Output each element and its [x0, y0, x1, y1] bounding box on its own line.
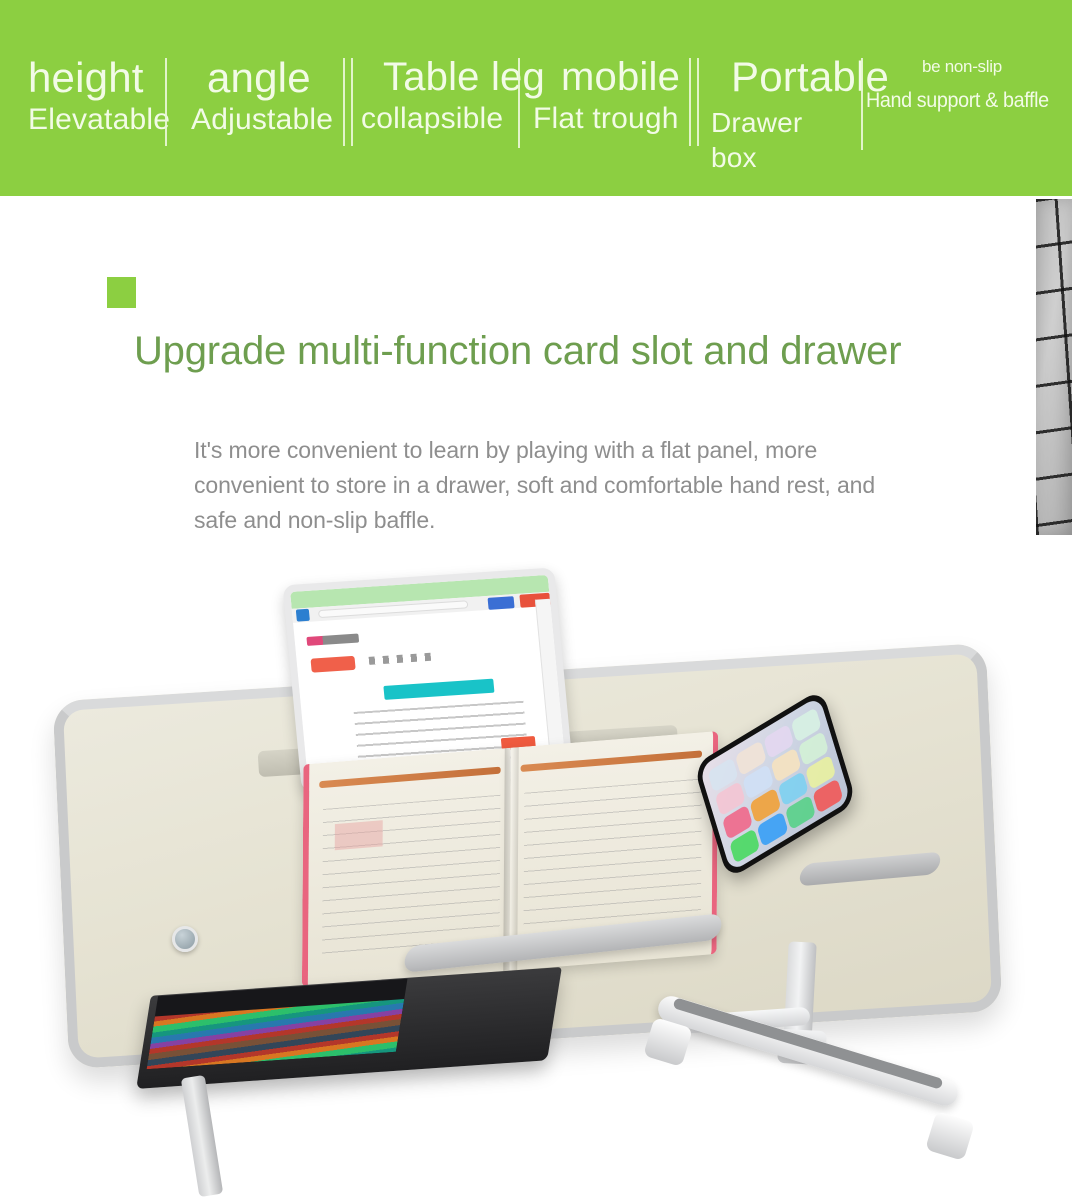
notebook-right-highlight: [521, 750, 702, 772]
tablet-blue-button: [488, 596, 515, 610]
notebook-left-highlight: [319, 767, 500, 789]
banner-separator-3: [351, 58, 353, 146]
table-foot-cap-right: [925, 1111, 975, 1161]
banner-separator-6: [697, 58, 699, 146]
feature-angle-subtitle: Adjustable: [191, 104, 333, 136]
tile-pattern-strip: [1036, 199, 1072, 535]
feature-mobile-subtitle: Flat trough: [533, 103, 680, 135]
tablet-scrollbar: [535, 599, 565, 759]
product-photo: [0, 560, 1072, 1197]
banner-separator-4: [518, 58, 520, 148]
page-headline: Upgrade multi-function card slot and dra…: [134, 324, 924, 379]
accent-square: [107, 277, 136, 308]
banner-separator-1: [165, 58, 167, 146]
banner-separator-7: [861, 58, 863, 150]
banner-separator-2: [343, 58, 345, 146]
tablet-orange-tag: [310, 656, 355, 673]
table-leg-left: [181, 1075, 223, 1197]
tablet-teal-banner: [383, 679, 494, 700]
feature-height-subtitle: Elevatable: [28, 104, 170, 136]
notebook-left-rules: [322, 795, 500, 960]
feature-non-slip-subtitle: Hand support & baffle: [866, 90, 1049, 112]
tablet-site-logo-icon: [306, 634, 359, 646]
feature-angle-title: angle: [191, 56, 333, 100]
tablet-toolbar-icons: [369, 653, 432, 665]
notebook-pink-mark: [335, 820, 383, 850]
feature-banner: height Elevatable angle Adjustable Table…: [0, 0, 1072, 196]
feature-height-title: height: [28, 56, 170, 100]
feature-mobile: mobile Flat trough: [533, 56, 680, 135]
feature-non-slip: be non-slip Hand support & baffle: [866, 58, 1060, 112]
banner-separator-5: [689, 58, 691, 146]
angle-adjust-knob: [172, 926, 198, 952]
tablet-browser-logo-icon: [296, 609, 310, 622]
feature-non-slip-title: be non-slip: [866, 58, 1060, 76]
feature-height: height Elevatable: [28, 56, 170, 136]
feature-portable-subtitle: Drawer box: [711, 105, 831, 175]
page-body-text: It's more convenient to learn by playing…: [194, 433, 914, 538]
feature-mobile-title: mobile: [533, 56, 680, 98]
feature-angle: angle Adjustable: [191, 56, 333, 136]
